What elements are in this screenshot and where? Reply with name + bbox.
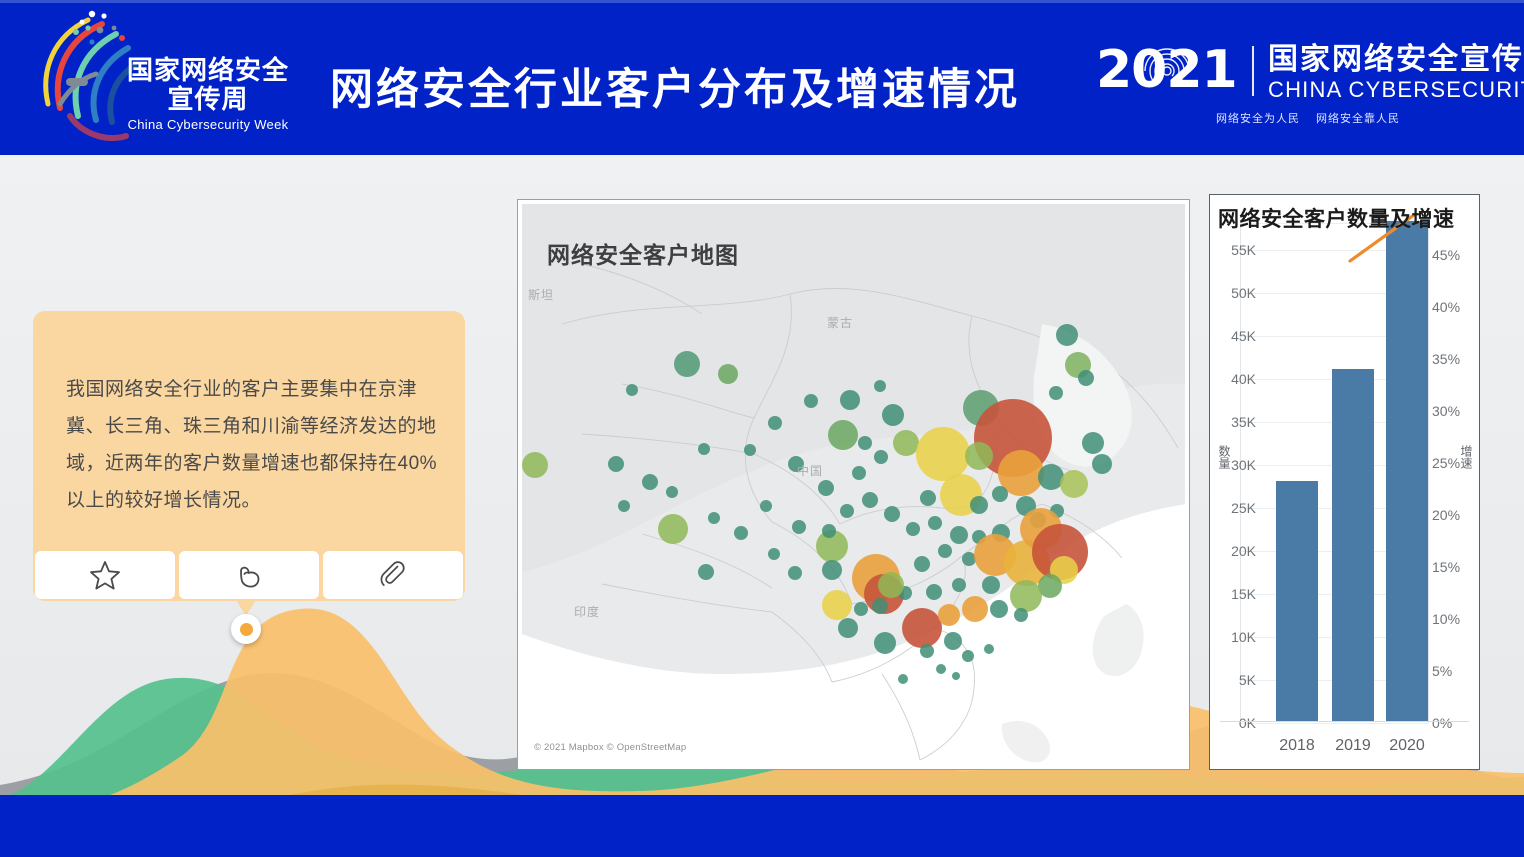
brand-tagline-right: 网络安全靠人民 <box>1316 113 1400 125</box>
bubble-marker <box>1049 386 1063 400</box>
bubble-marker <box>884 506 900 522</box>
bubble-marker <box>744 444 756 456</box>
map-panel[interactable]: 网络安全客户地图 © 2021 Mapbox © OpenStreetMap 斯… <box>517 199 1190 770</box>
bubble-marker <box>858 436 872 450</box>
brand-divider <box>1252 46 1254 96</box>
bubble-marker <box>788 566 802 580</box>
bubble-marker <box>914 556 930 572</box>
bubble-marker <box>698 564 714 580</box>
bubble-marker <box>804 394 818 408</box>
slide-canvas: 国家网络安全 宣传周 China Cybersecurity Week 网络安全… <box>0 0 1524 857</box>
bubble-marker <box>970 496 988 514</box>
brand-tagline: 网络安全为人民网络安全靠人民 <box>1216 110 1416 126</box>
bubble-marker <box>950 526 968 544</box>
bubble-marker <box>840 504 854 518</box>
bubble-marker <box>962 650 974 662</box>
star-icon <box>88 558 122 592</box>
chart-title: 网络安全客户数量及增速 <box>1218 203 1455 233</box>
pointer-button[interactable] <box>179 551 319 599</box>
bubble-marker <box>926 584 942 600</box>
bubble-marker <box>1082 432 1104 454</box>
bubble-marker <box>840 390 860 410</box>
bubble-marker <box>906 522 920 536</box>
page-title: 网络安全行业客户分布及增速情况 <box>330 58 1020 122</box>
bubble-marker <box>608 456 624 472</box>
bubble-marker <box>874 380 886 392</box>
cybersecurity-week-logo: 国家网络安全 宣传周 China Cybersecurity Week <box>30 8 305 148</box>
bubble-marker <box>872 598 888 614</box>
bubble-marker <box>938 604 960 626</box>
bubble-marker <box>666 486 678 498</box>
bubble-marker <box>822 524 836 538</box>
bubble-marker <box>952 672 960 680</box>
bubble-marker <box>882 404 904 426</box>
hand-pointer-icon <box>232 558 266 592</box>
bubble-marker <box>990 600 1008 618</box>
bubble-marker <box>1078 370 1094 386</box>
bubble-marker <box>768 416 782 430</box>
map-title: 网络安全客户地图 <box>547 236 739 270</box>
slide-header: 国家网络安全 宣传周 China Cybersecurity Week 网络安全… <box>0 0 1524 155</box>
bubble-marker <box>928 516 942 530</box>
info-card: 我国网络安全行业的客户主要集中在京津冀、长三角、珠三角和川渝等经济发达的地域，近… <box>33 311 465 601</box>
brand-name-en: CHINA CYBERSECURITY WEEK <box>1268 78 1524 102</box>
bubble-marker <box>734 526 748 540</box>
map-canvas[interactable]: 网络安全客户地图 © 2021 Mapbox © OpenStreetMap 斯… <box>522 204 1185 765</box>
header-brand-2021: 2021 国家网络安全宣传周 CHINA CYBERSECURITY WEEK <box>1096 42 1496 137</box>
bubble-marker <box>898 674 908 684</box>
bubble-marker <box>708 512 720 524</box>
bubble-marker <box>952 578 966 592</box>
brand-tagline-left: 网络安全为人民 <box>1216 113 1300 125</box>
bubble-marker <box>642 474 658 490</box>
bubble-marker <box>658 514 688 544</box>
footer-bar <box>0 795 1524 857</box>
bubble-marker <box>862 492 878 508</box>
bubble-marker <box>522 452 548 478</box>
logo-text-block: 国家网络安全 宣传周 China Cybersecurity Week <box>118 56 298 132</box>
map-label-india: 印度 <box>574 603 600 620</box>
bubble-marker <box>982 576 1000 594</box>
bubble-marker <box>822 560 842 580</box>
bubble-marker <box>852 466 866 480</box>
bubble-marker <box>984 644 994 654</box>
bubble-marker <box>626 384 638 396</box>
bubble-marker <box>936 664 946 674</box>
bubble-marker <box>674 351 700 377</box>
bubble-marker <box>854 602 868 616</box>
map-label-mongolia: 蒙古 <box>827 314 853 331</box>
bubble-marker <box>768 548 780 560</box>
favorite-button[interactable] <box>35 551 175 599</box>
map-attribution: © 2021 Mapbox © OpenStreetMap <box>534 742 686 753</box>
bubble-marker <box>874 450 888 464</box>
fingerprint-icon <box>1140 44 1194 98</box>
bubble-marker <box>962 596 988 622</box>
attachment-button[interactable] <box>323 551 463 599</box>
info-card-actions <box>33 551 465 601</box>
pin-dot-icon <box>240 623 253 636</box>
bubble-marker <box>878 572 904 598</box>
bubble-marker <box>965 442 993 470</box>
bubble-marker <box>944 632 962 650</box>
map-label-kazakhstan: 斯坦 <box>528 286 554 303</box>
bubble-marker <box>838 618 858 638</box>
bubble-marker <box>992 486 1008 502</box>
growth-trend-line <box>1210 195 1481 771</box>
logo-title-line2: 宣传周 <box>118 84 298 114</box>
logo-subtitle-en: China Cybersecurity Week <box>118 117 298 132</box>
brand-name-cn: 国家网络安全宣传周 <box>1268 44 1524 76</box>
logo-title-line1: 国家网络安全 <box>118 56 298 84</box>
bubble-marker <box>828 420 858 450</box>
header-top-accent <box>0 0 1524 3</box>
chart-panel[interactable]: 网络安全客户数量及增速 数量 增速 0K 5K 10K 15K 20K 25K … <box>1209 194 1480 770</box>
bubble-marker <box>822 590 852 620</box>
bubble-marker <box>698 443 710 455</box>
info-card-text: 我国网络安全行业的客户主要集中在京津冀、长三角、珠三角和川渝等经济发达的地域，近… <box>66 371 446 519</box>
bubble-marker <box>618 500 630 512</box>
bubble-marker <box>920 644 934 658</box>
bubble-marker <box>1056 324 1078 346</box>
paperclip-icon <box>376 558 410 592</box>
bubble-marker <box>916 427 970 481</box>
bubble-marker <box>874 632 896 654</box>
map-pin-marker <box>231 614 261 644</box>
bubble-marker <box>760 500 772 512</box>
bubble-marker <box>1014 608 1028 622</box>
map-label-china: 中国 <box>797 462 823 479</box>
bubble-marker <box>792 520 806 534</box>
bubble-marker <box>1092 454 1112 474</box>
bubble-marker <box>1060 470 1088 498</box>
bubble-marker <box>718 364 738 384</box>
bubble-marker <box>818 480 834 496</box>
bubble-marker <box>902 608 942 648</box>
bubble-marker <box>920 490 936 506</box>
bubble-marker <box>1010 580 1042 612</box>
bubble-marker <box>938 544 952 558</box>
